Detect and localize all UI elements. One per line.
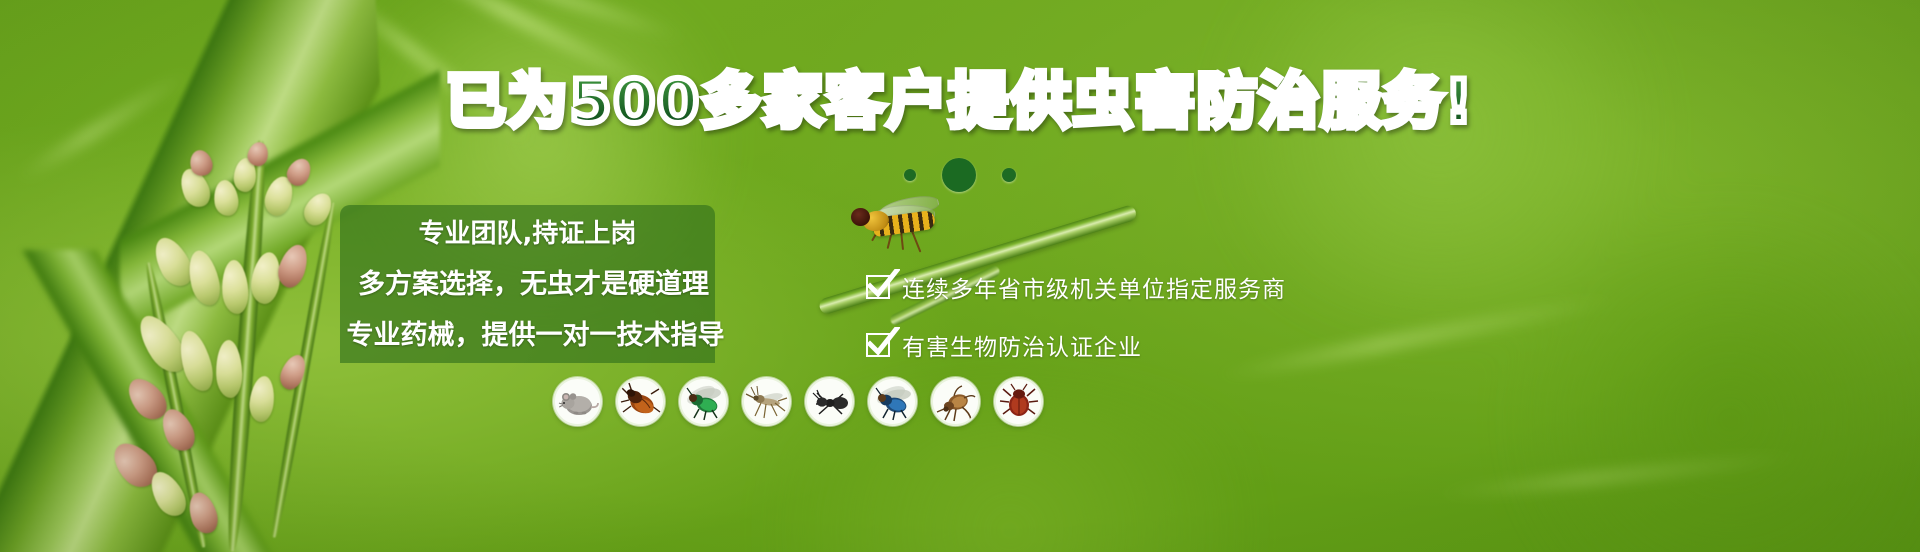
checklist-item-label: 连续多年省市级机关单位指定服务商 <box>902 270 1286 304</box>
bluefly-icon <box>871 380 915 424</box>
feature-highlight-box: 专业团队,持证上岗 多方案选择，无虫才是硬道理 专业药械，提供一对一技术指导 <box>340 205 715 363</box>
bedbug-icon <box>997 380 1041 424</box>
banner-headline: 已为500多家客户提供虫害防治服务! <box>0 72 1920 132</box>
checkbox-checked-icon <box>866 275 890 299</box>
pest-icon-flea[interactable] <box>931 377 980 426</box>
cockroach-icon <box>619 380 663 424</box>
feature-line-3: 专业药械，提供一对一技术指导 <box>347 313 725 352</box>
decor-dot-mid <box>1002 168 1016 182</box>
mouse-icon <box>556 380 600 424</box>
decorative-dots <box>0 158 1920 192</box>
checklist-item: 连续多年省市级机关单位指定服务商 <box>866 270 1286 304</box>
greenfly-icon <box>682 380 726 424</box>
pest-control-hero-banner: 已为500多家客户提供虫害防治服务! 专业团队,持证上岗 多方案选择，无虫才是硬… <box>0 0 1920 552</box>
decor-dot-small <box>904 169 916 181</box>
feature-line-1: 专业团队,持证上岗 <box>419 213 637 250</box>
pest-icon-mosquito[interactable] <box>742 377 791 426</box>
ant-icon <box>808 380 852 424</box>
pest-icon-mouse[interactable] <box>553 377 602 426</box>
decor-dot-large <box>942 158 976 192</box>
mosquito-icon <box>745 380 789 424</box>
pest-type-icon-row <box>553 377 1043 426</box>
checklist-item: 有害生物防治认证企业 <box>866 328 1286 362</box>
pest-icon-bedbug[interactable] <box>994 377 1043 426</box>
pest-icon-greenfly[interactable] <box>679 377 728 426</box>
pest-icon-cockroach[interactable] <box>616 377 665 426</box>
feature-line-2: 多方案选择，无虫才是硬道理 <box>358 262 709 301</box>
flea-icon <box>934 380 978 424</box>
pest-icon-bluefly[interactable] <box>868 377 917 426</box>
pest-icon-ant[interactable] <box>805 377 854 426</box>
credentials-checklist: 连续多年省市级机关单位指定服务商 有害生物防治认证企业 <box>866 270 1286 362</box>
checkbox-checked-icon <box>866 333 890 357</box>
checklist-item-label: 有害生物防治认证企业 <box>902 328 1142 362</box>
